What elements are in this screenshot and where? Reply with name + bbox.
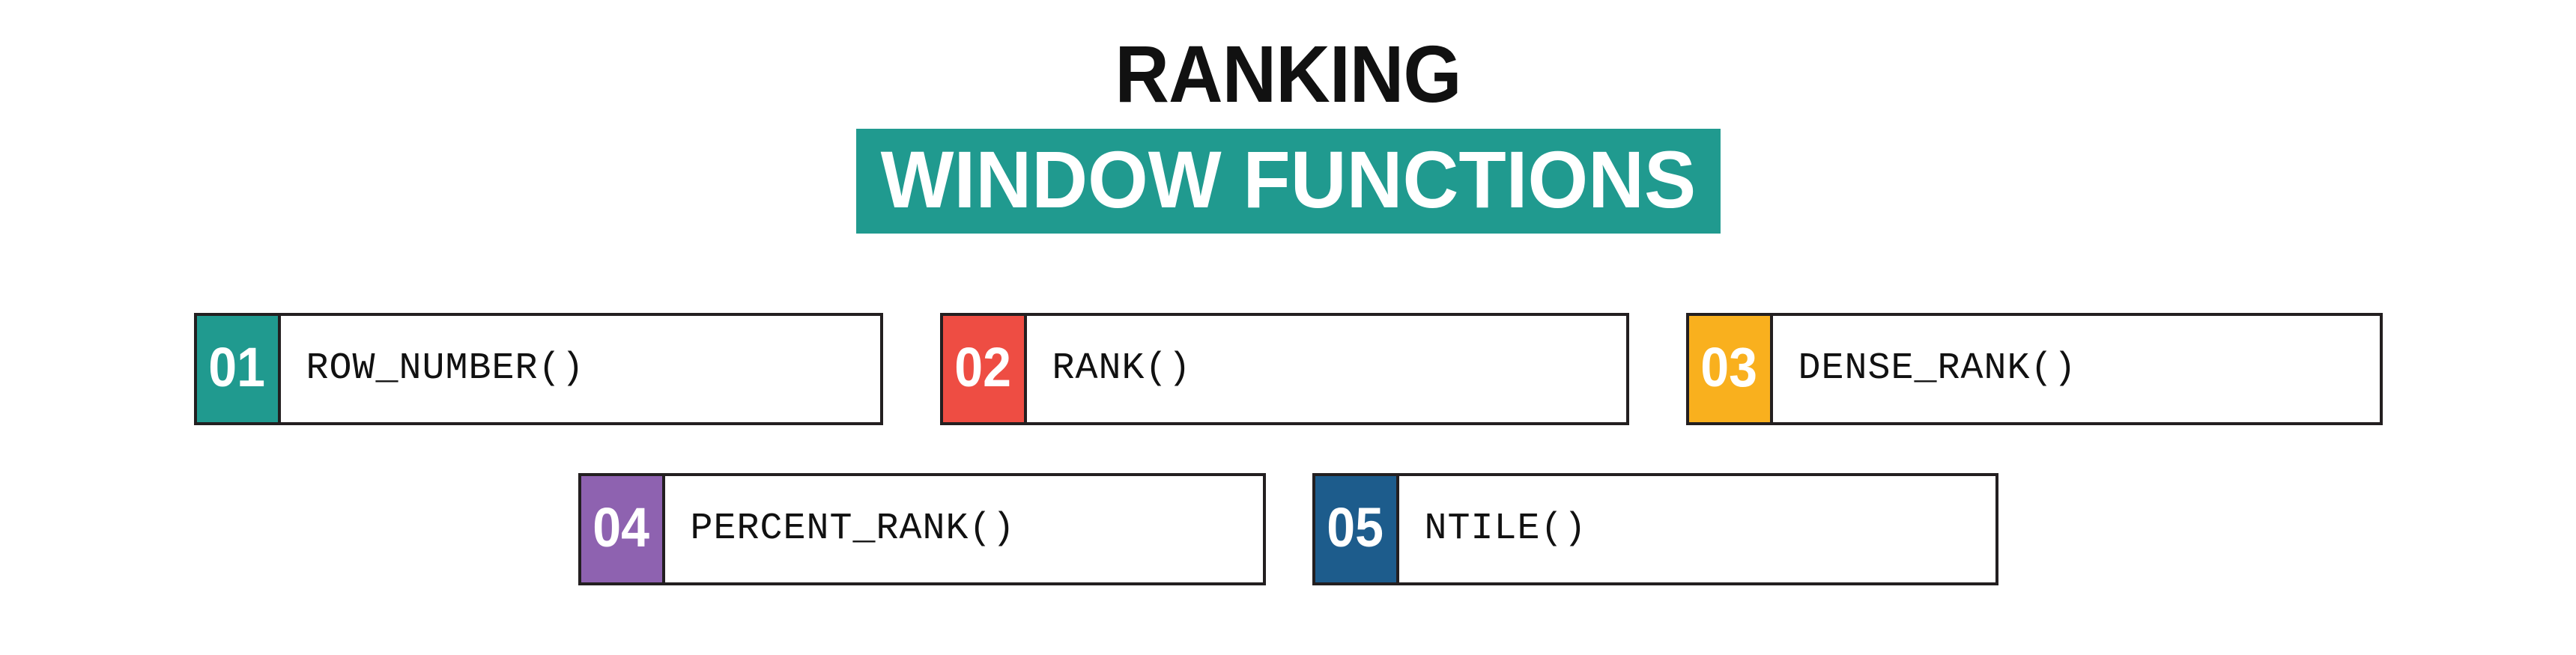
page-subtitle-banner: WINDOW FUNCTIONS: [856, 129, 1721, 234]
infographic-canvas: RANKING WINDOW FUNCTIONS 01 ROW_NUMBER()…: [0, 0, 2576, 655]
badge-number-02: 02: [955, 340, 1012, 395]
badge-number-05: 05: [1327, 500, 1384, 555]
title-banner-row: WINDOW FUNCTIONS: [0, 129, 2576, 234]
function-label-dense-rank: DENSE_RANK(): [1773, 316, 2380, 422]
function-card-percent-rank[interactable]: 04 PERCENT_RANK(): [578, 473, 1266, 585]
function-card-dense-rank[interactable]: 03 DENSE_RANK(): [1686, 313, 2383, 425]
function-label-rank: RANK(): [1027, 316, 1626, 422]
badge-05: 05: [1315, 476, 1399, 582]
badge-03: 03: [1689, 316, 1773, 422]
card-row-1: 01 ROW_NUMBER() 02 RANK() 03 DENSE_RANK(…: [0, 313, 2576, 425]
function-card-rows: 01 ROW_NUMBER() 02 RANK() 03 DENSE_RANK(…: [0, 313, 2576, 585]
function-label-percent-rank: PERCENT_RANK(): [665, 476, 1263, 582]
badge-04: 04: [581, 476, 665, 582]
badge-number-03: 03: [1701, 340, 1758, 395]
function-card-ntile[interactable]: 05 NTILE(): [1312, 473, 1998, 585]
badge-01: 01: [197, 316, 281, 422]
function-label-row-number: ROW_NUMBER(): [281, 316, 880, 422]
badge-number-01: 01: [209, 340, 266, 395]
function-label-ntile: NTILE(): [1399, 476, 1995, 582]
page-title: RANKING: [90, 0, 2485, 118]
function-card-row-number[interactable]: 01 ROW_NUMBER(): [194, 313, 883, 425]
function-card-rank[interactable]: 02 RANK(): [940, 313, 1629, 425]
badge-02: 02: [943, 316, 1027, 422]
title-block: RANKING WINDOW FUNCTIONS: [0, 0, 2576, 234]
card-row-2: 04 PERCENT_RANK() 05 NTILE(): [0, 473, 2576, 585]
badge-number-04: 04: [593, 500, 650, 555]
